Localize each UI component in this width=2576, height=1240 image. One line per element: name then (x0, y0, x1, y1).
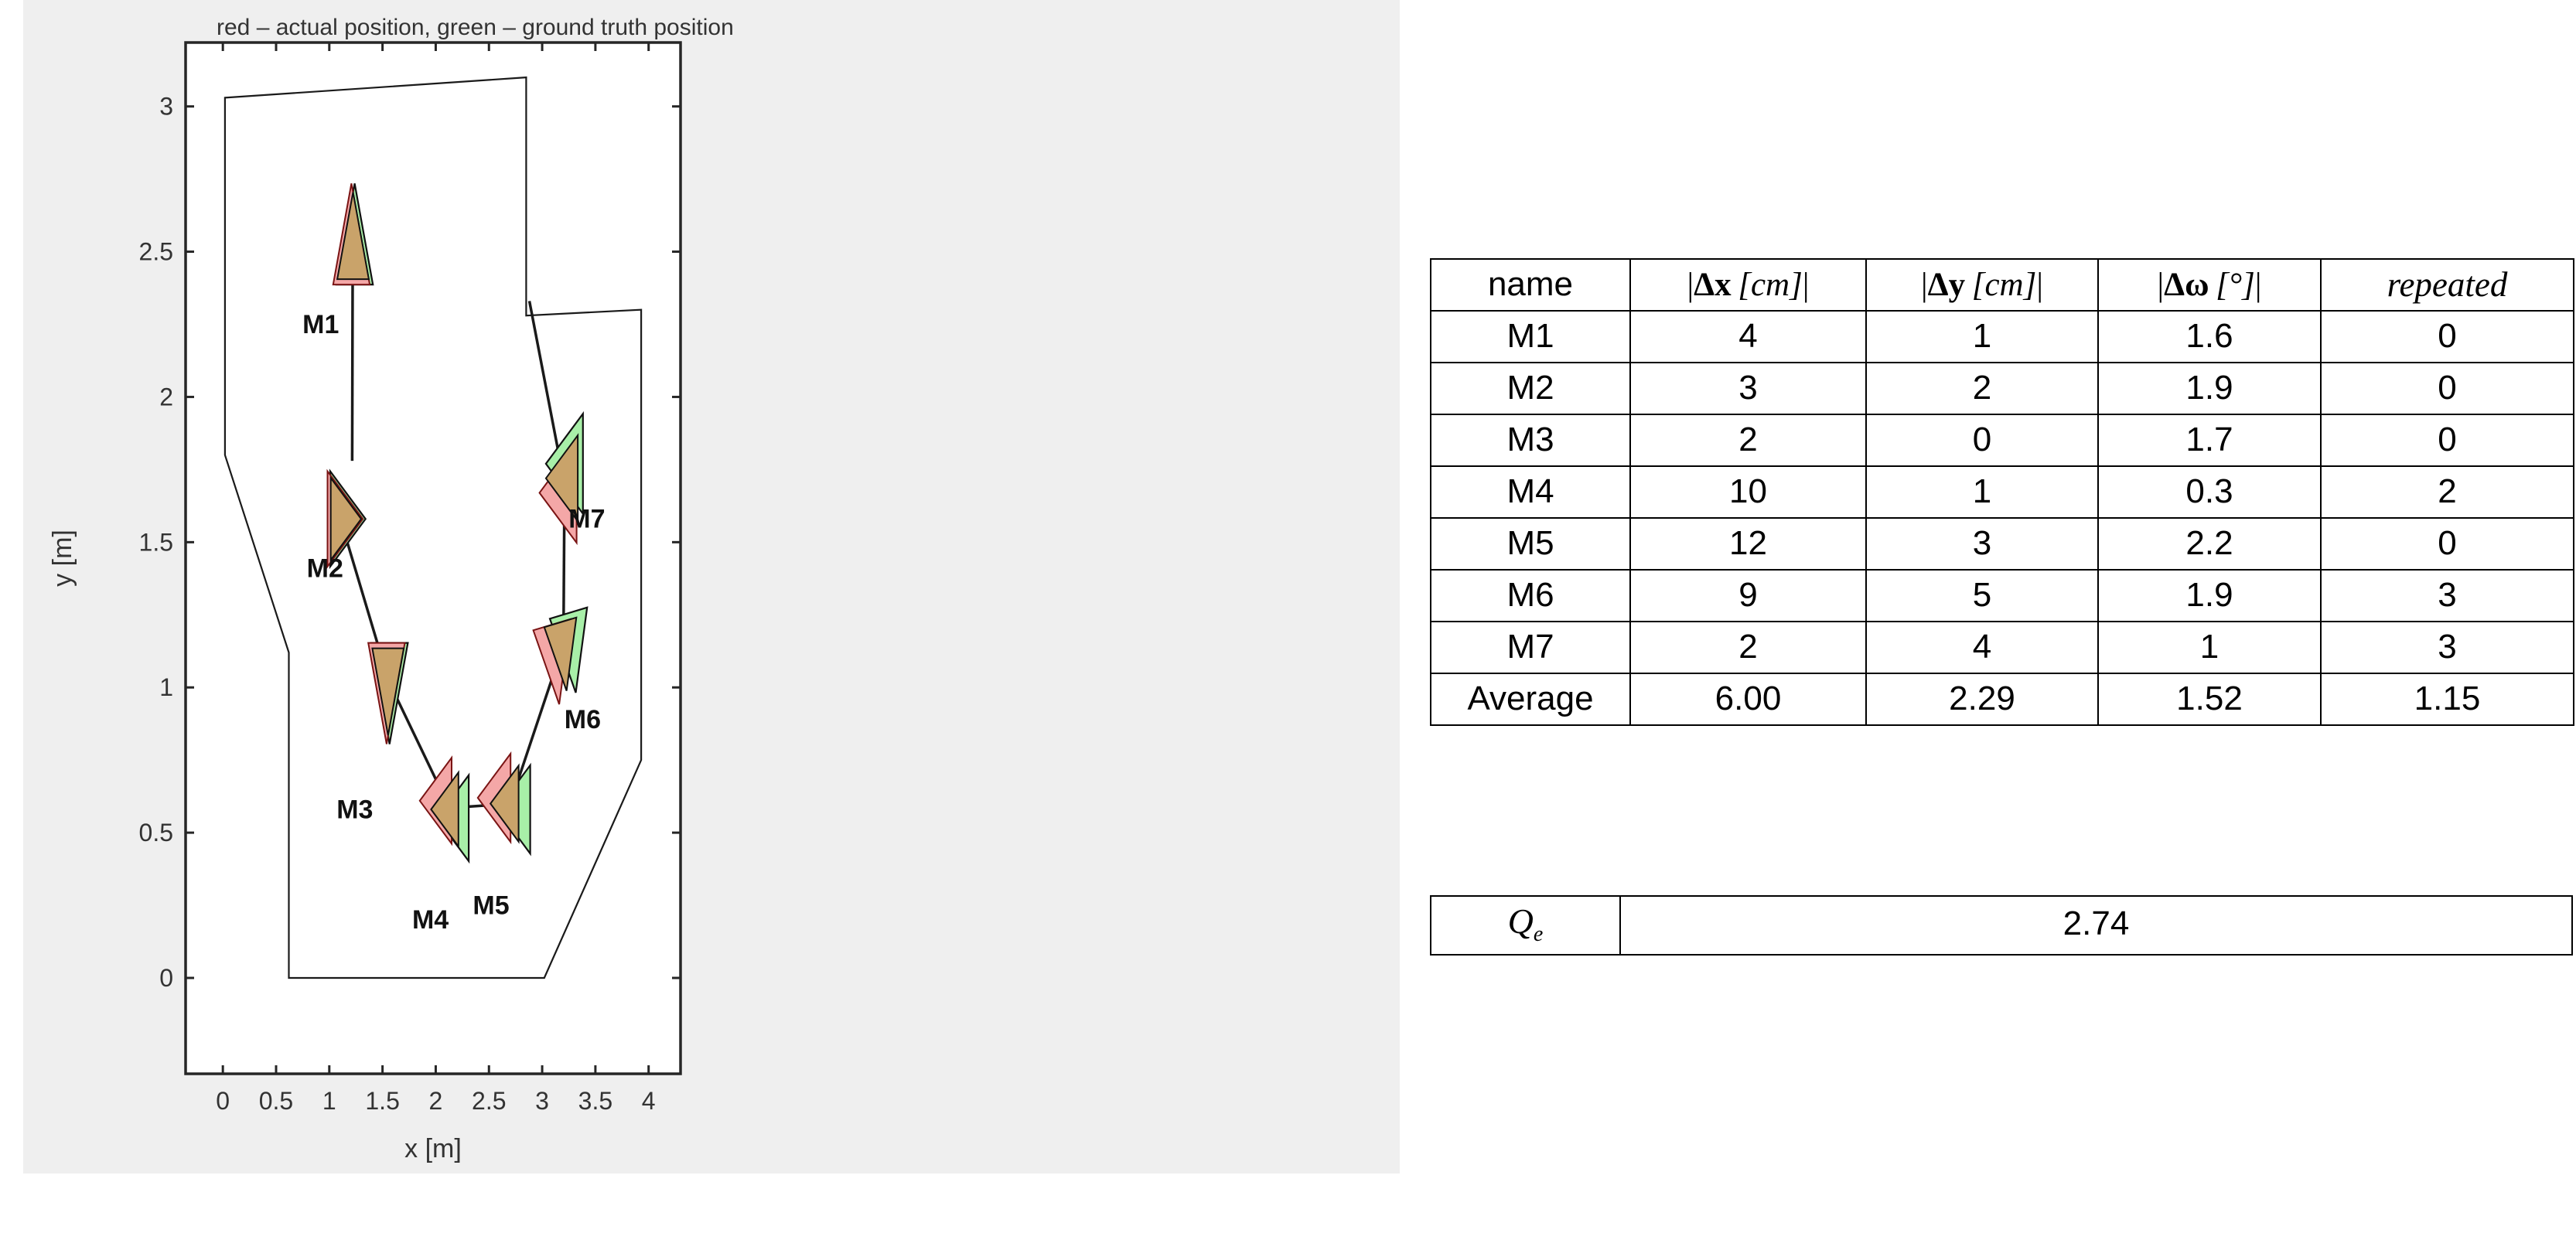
cell-dw: 1.6 (2098, 311, 2321, 363)
cell-repeated: 3 (2321, 622, 2574, 673)
cell-dx: 10 (1630, 466, 1866, 518)
cell-repeated: 0 (2321, 414, 2574, 466)
metrics-table: name |Δx [cm]| |Δy [cm]| |Δω [°]| repeat… (1430, 258, 2574, 726)
x-tick-label: 4 (642, 1087, 656, 1115)
cell-repeated: 3 (2321, 570, 2574, 622)
chart-title: red – actual position, green – ground tr… (217, 15, 734, 40)
table-row: M51232.20 (1431, 518, 2574, 570)
qe-value-cell: 2.74 (1620, 896, 2572, 955)
y-tick-label: 2.5 (139, 238, 173, 266)
cell-dx: 2 (1630, 414, 1866, 466)
marker-label-m2: M2 (307, 554, 343, 583)
cell-name: M1 (1431, 311, 1630, 363)
y-tick-label: 1 (159, 673, 173, 701)
position-plot: red – actual position, green – ground tr… (23, 0, 1454, 1174)
cell-repeated: 1.15 (2321, 673, 2574, 725)
cell-dy: 1 (1866, 311, 2098, 363)
marker-label-m6: M6 (565, 705, 601, 734)
x-tick-label: 1.5 (365, 1087, 399, 1115)
column-header-delta-x: |Δx [cm]| (1630, 259, 1866, 311)
figure-panel: red – actual position, green – ground tr… (23, 0, 1454, 1174)
qe-table: Qe 2.74 (1430, 895, 2573, 956)
marker-label-m3: M3 (336, 795, 373, 824)
x-tick-label: 0 (216, 1087, 230, 1115)
cell-dy: 2.29 (1866, 673, 2098, 725)
cell-dy: 1 (1866, 466, 2098, 518)
cell-name: M2 (1431, 363, 1630, 414)
marker-label-m7: M7 (568, 505, 605, 534)
cell-dy: 5 (1866, 570, 2098, 622)
table-row: M1411.60 (1431, 311, 2574, 363)
marker-label-m5: M5 (473, 891, 509, 920)
cell-name: M3 (1431, 414, 1630, 466)
cell-dy: 4 (1866, 622, 2098, 673)
cell-dx: 2 (1630, 622, 1866, 673)
table-row: M72413 (1431, 622, 2574, 673)
cell-dy: 0 (1866, 414, 2098, 466)
cell-dw: 1.7 (2098, 414, 2321, 466)
cell-dw: 2.2 (2098, 518, 2321, 570)
cell-dw: 0.3 (2098, 466, 2321, 518)
cell-dw: 1.9 (2098, 570, 2321, 622)
table-header-row: name |Δx [cm]| |Δy [cm]| |Δω [°]| repeat… (1431, 259, 2574, 311)
y-tick-label: 2 (159, 383, 173, 410)
table-row: M6951.93 (1431, 570, 2574, 622)
metrics-panel: name |Δx [cm]| |Δy [cm]| |Δω [°]| repeat… (1400, 0, 2576, 1240)
table-row: M41010.32 (1431, 466, 2574, 518)
x-axis-label: x [m] (404, 1134, 462, 1163)
marker-label-m4: M4 (412, 905, 449, 935)
cell-name: Average (1431, 673, 1630, 725)
column-header-repeated: repeated (2321, 259, 2574, 311)
y-axis-label: y [m] (48, 530, 77, 587)
cell-name: M5 (1431, 518, 1630, 570)
x-tick-label: 3 (535, 1087, 549, 1115)
cell-dw: 1.9 (2098, 363, 2321, 414)
x-tick-label: 0.5 (259, 1087, 293, 1115)
column-header-name: name (1431, 259, 1630, 311)
cell-dx: 3 (1630, 363, 1866, 414)
cell-dx: 6.00 (1630, 673, 1866, 725)
cell-dx: 9 (1630, 570, 1866, 622)
cell-dx: 4 (1630, 311, 1866, 363)
x-tick-label: 3.5 (578, 1087, 612, 1115)
x-tick-label: 2.5 (472, 1087, 506, 1115)
marker-label-m1: M1 (302, 310, 339, 339)
y-tick-label: 3 (159, 93, 173, 121)
cell-dy: 3 (1866, 518, 2098, 570)
cell-name: M7 (1431, 622, 1630, 673)
cell-dy: 2 (1866, 363, 2098, 414)
x-tick-label: 2 (429, 1087, 443, 1115)
table-row: M2321.90 (1431, 363, 2574, 414)
x-tick-label: 1 (322, 1087, 336, 1115)
cell-dw: 1 (2098, 622, 2321, 673)
y-tick-label: 0 (159, 964, 173, 992)
cell-dw: 1.52 (2098, 673, 2321, 725)
cell-name: M6 (1431, 570, 1630, 622)
table-row: Average6.002.291.521.15 (1431, 673, 2574, 725)
column-header-delta-omega: |Δω [°]| (2098, 259, 2321, 311)
column-header-delta-y: |Δy [cm]| (1866, 259, 2098, 311)
cell-name: M4 (1431, 466, 1630, 518)
cell-repeated: 0 (2321, 311, 2574, 363)
y-tick-label: 1.5 (139, 528, 173, 556)
qe-label-cell: Qe (1431, 896, 1620, 955)
table-row: M3201.70 (1431, 414, 2574, 466)
cell-dx: 12 (1630, 518, 1866, 570)
cell-repeated: 2 (2321, 466, 2574, 518)
y-tick-label: 0.5 (139, 819, 173, 847)
cell-repeated: 0 (2321, 518, 2574, 570)
cell-repeated: 0 (2321, 363, 2574, 414)
qe-row: Qe 2.74 (1431, 896, 2572, 955)
